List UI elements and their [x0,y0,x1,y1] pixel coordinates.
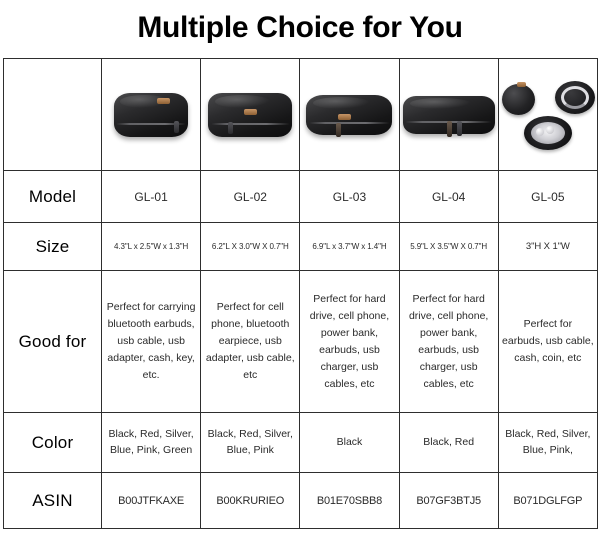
size-value-3: 6.9"L x 3.7"W x 1.4"H [300,223,399,271]
good-for-value-4: Perfect for hard drive, cell phone, powe… [399,271,498,413]
model-value-3: GL-03 [300,171,399,223]
asin-value-4: B07GF3BTJ5 [399,473,498,529]
asin-value-1: B00JTFKAXE [102,473,201,529]
good-for-value-3: Perfect for hard drive, cell phone, powe… [300,271,399,413]
model-value-1: GL-01 [102,171,201,223]
table-row-model: Model GL-01 GL-02 GL-03 GL-04 GL-05 [4,171,598,223]
row-label-model: Model [4,171,102,223]
product-image-cell-1 [102,59,201,171]
asin-value-3: B01E70SBB8 [300,473,399,529]
product-comparison-table: Model GL-01 GL-02 GL-03 GL-04 GL-05 Size… [3,58,598,529]
good-for-value-2: Perfect for cell phone, bluetooth earpie… [201,271,300,413]
good-for-value-5: Perfect for earbuds, usb cable, cash, co… [498,271,597,413]
good-for-value-1: Perfect for carrying bluetooth earbuds, … [102,271,201,413]
case-gl05-icon [500,80,596,150]
row-label-images [4,59,102,171]
color-value-4: Black, Red [399,413,498,473]
model-value-4: GL-04 [399,171,498,223]
case-gl03-icon [306,95,392,135]
product-image-cell-4 [399,59,498,171]
row-label-size: Size [4,223,102,271]
color-value-1: Black, Red, Silver, Blue, Pink, Green [102,413,201,473]
color-value-2: Black, Red, Silver, Blue, Pink [201,413,300,473]
size-value-1: 4.3"L x 2.5"W x 1.3"H [102,223,201,271]
color-value-3: Black [300,413,399,473]
case-gl04-icon [403,96,495,134]
row-label-asin: ASIN [4,473,102,529]
model-value-2: GL-02 [201,171,300,223]
table-row-product-images [4,59,598,171]
row-label-color: Color [4,413,102,473]
size-value-4: 5.9"L X 3.5"W X 0.7"H [399,223,498,271]
product-image-cell-3 [300,59,399,171]
size-value-5: 3"H X 1"W [498,223,597,271]
row-label-good-for: Good for [4,271,102,413]
case-gl01-icon [114,93,188,137]
product-image-cell-5 [498,59,597,171]
table-row-size: Size 4.3"L x 2.5"W x 1.3"H 6.2"L X 3.0"W… [4,223,598,271]
table-row-asin: ASIN B00JTFKAXE B00KRURIEO B01E70SBB8 B0… [4,473,598,529]
product-comparison-page: Multiple Choice for You [0,0,600,548]
case-gl02-icon [208,93,292,137]
asin-value-5: B071DGLFGP [498,473,597,529]
table-row-good-for: Good for Perfect for carrying bluetooth … [4,271,598,413]
model-value-5: GL-05 [498,171,597,223]
color-value-5: Black, Red, Silver, Blue, Pink, [498,413,597,473]
table-row-color: Color Black, Red, Silver, Blue, Pink, Gr… [4,413,598,473]
asin-value-2: B00KRURIEO [201,473,300,529]
page-title: Multiple Choice for You [0,0,600,58]
product-image-cell-2 [201,59,300,171]
size-value-2: 6.2"L X 3.0"W X 0.7"H [201,223,300,271]
